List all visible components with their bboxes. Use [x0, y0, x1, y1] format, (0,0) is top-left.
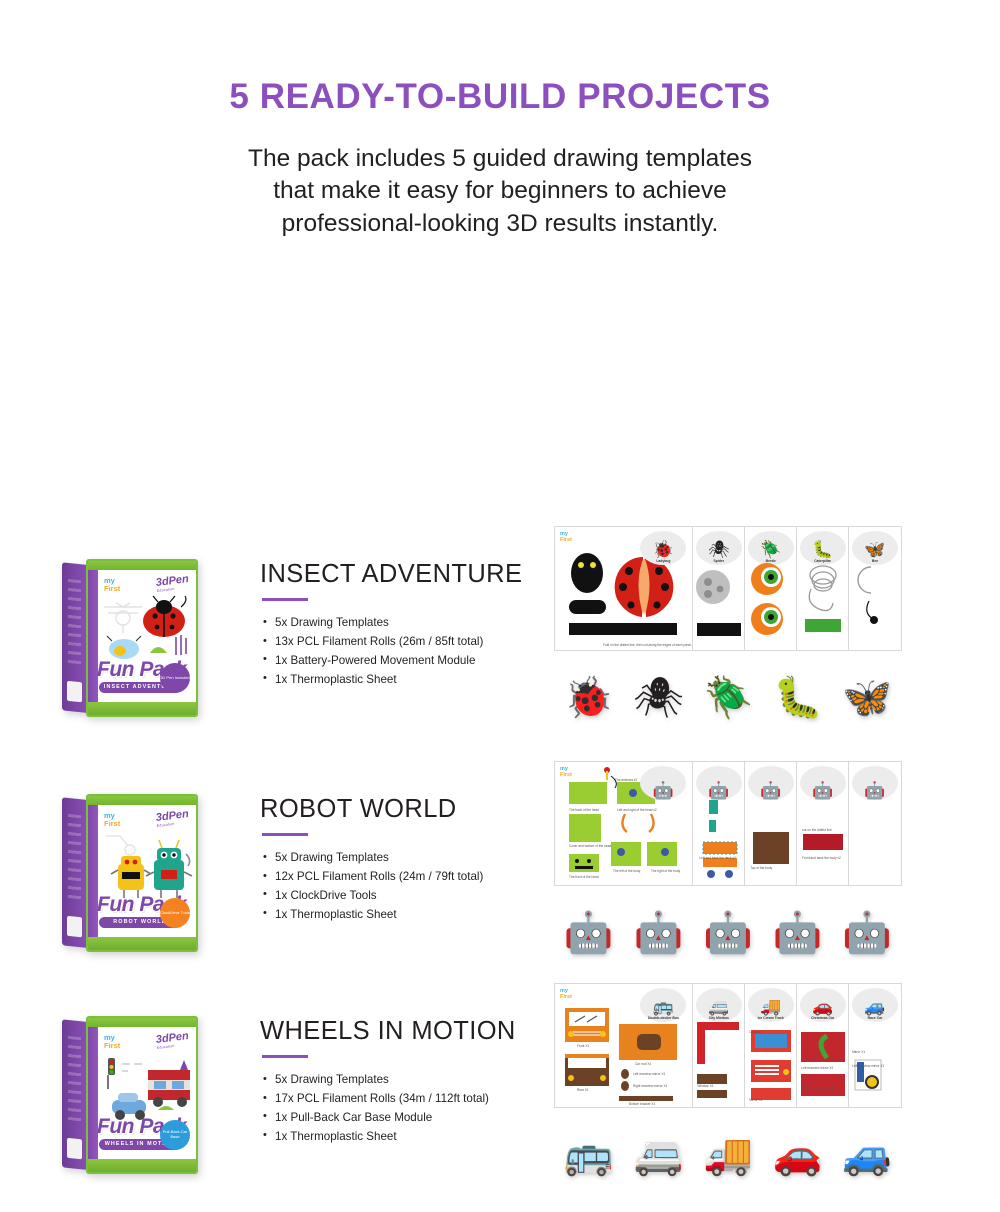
- title-underline: [262, 598, 308, 602]
- sheet-column-robot: my First 🤖: [550, 755, 1000, 990]
- template-thumbnail-beetle: 🪲 Beetle: [748, 531, 794, 565]
- template-panels: my First 🐞 Ladybug: [554, 526, 902, 651]
- sheet-note: Left rearview mirror X1: [633, 1072, 665, 1076]
- sheet-note: Left rearview mirror X1: [852, 1064, 884, 1068]
- brown-robot-shapes: [745, 798, 797, 883]
- sheet-note: The right of the body: [651, 869, 680, 873]
- box-footer-line: Draw Your Own 3D Creations: [88, 944, 196, 948]
- orange-robot-model: 🤖: [842, 913, 892, 953]
- text-column-robot: ROBOT WORLD 5x Drawing Templates 12x PCL…: [260, 755, 550, 990]
- sheet-note: Mirror X1: [852, 1050, 865, 1054]
- sheet-note: Top of the body: [750, 866, 772, 870]
- car-icon: 🚗: [812, 998, 833, 1015]
- list-item: 12x PCL Filament Rolls (24m / 79ft total…: [260, 868, 550, 887]
- list-item: 5x Drawing Templates: [260, 1071, 550, 1090]
- text-column-insect: INSECT ADVENTURE 5x Drawing Templates 13…: [260, 520, 550, 755]
- box-left-edge: [88, 570, 98, 706]
- sheet-column-insect: my First 🐞 Ladybug: [550, 520, 1000, 755]
- sheet-note: The back of the head: [569, 808, 599, 812]
- template-sheet-robot[interactable]: my First 🤖: [554, 761, 902, 953]
- template-thumbnail-bee: 🦋 Bee: [852, 531, 898, 565]
- 3dpen-logo: 3dPen Education: [155, 573, 190, 593]
- template-thumbnail-orange-robot: 🤖: [852, 766, 898, 800]
- box-spine: [62, 1019, 88, 1170]
- box-left-edge: [88, 1027, 98, 1163]
- text-column-wheels: WHEELS IN MOTION 5x Drawing Templates 17…: [260, 977, 550, 1212]
- brand-my: my: [104, 1034, 120, 1042]
- list-item: 5x Drawing Templates: [260, 614, 550, 633]
- list-item: 1x ClockDrive Tools: [260, 887, 550, 906]
- template-thumbnail-teal-robot: 🤖: [696, 766, 742, 800]
- feature-list-insect: 5x Drawing Templates 13x PCL Filament Ro…: [260, 614, 550, 689]
- caterpillar-model: 🐛: [773, 678, 823, 718]
- sheet-note: Left and right of the head x2: [617, 808, 657, 812]
- 3dpen-logo: 3dPen Education: [155, 808, 190, 828]
- sheet-note: cut on the dotted line: [802, 828, 832, 832]
- template-sheet-insect[interactable]: my First 🐞 Ladybug: [554, 526, 902, 718]
- box-column-wheels: my First 3dPen Education: [0, 977, 260, 1212]
- truck-icon: 🚚: [760, 998, 781, 1015]
- box-front-face: my First 3dPen Education: [86, 559, 198, 717]
- template-thumbnail-minibus: 🚐 City Minibus: [696, 988, 742, 1022]
- icecream-truck-shapes: [745, 1026, 797, 1107]
- yellow-robot-shapes: [797, 798, 849, 883]
- robot-icon: 🤖: [760, 782, 781, 799]
- ice-cream-truck-model: 🚚: [703, 1135, 753, 1175]
- finished-models-wheels: 🚌 🚐 🚚 🚗 🚙: [554, 1101, 902, 1175]
- template-thumbnail-spider: 🕷 Spider: [696, 531, 742, 565]
- bus-icon: 🚌: [653, 998, 674, 1015]
- sheet-note: Rear X1: [577, 1088, 589, 1092]
- template-panel-city-minibus: 🚐 City Minibus Window X1: [693, 984, 745, 1107]
- bee-template-shapes: [849, 561, 889, 646]
- page-title: 5 READY-TO-BUILD PROJECTS: [0, 78, 1000, 117]
- subtitle-line-2: that make it easy for beginners to achie…: [0, 175, 1000, 208]
- beetle-template-shapes: [745, 561, 797, 646]
- template-panel-ladybug: my First 🐞 Ladybug: [555, 527, 693, 650]
- sheet-note: Front and back the body x2: [802, 856, 841, 860]
- sheet-note: Lamp X1: [749, 1030, 762, 1034]
- sheet-brand-first: First: [560, 773, 572, 779]
- box-spine: [62, 797, 88, 948]
- thumbnail-caption: Christmas Car: [811, 1016, 834, 1020]
- robot-icon: 🤖: [812, 782, 833, 799]
- section-wheels-in-motion: my First 3dPen Education: [0, 977, 1000, 1212]
- thumbnail-caption: Ice Cream Truck: [758, 1016, 784, 1020]
- robot-icon: 🤖: [708, 782, 729, 799]
- bee-model: 🦋: [842, 678, 892, 718]
- list-item: 1x Thermoplastic Sheet: [260, 906, 550, 925]
- sheet-note: Left rearview mirror X1: [801, 1066, 833, 1070]
- template-thumbnail-christmas-car: 🚗 Christmas Car: [800, 988, 846, 1022]
- page-header: 5 READY-TO-BUILD PROJECTS The pack inclu…: [0, 0, 1000, 240]
- template-panel-christmas-car: 🚗 Christmas Car Left rearview mirror X1 …: [797, 984, 849, 1107]
- list-item: 13x PCL Filament Rolls (26m / 85ft total…: [260, 633, 550, 652]
- ladybug-icon: 🐞: [653, 541, 674, 558]
- section-title-wheels: WHEELS IN MOTION: [260, 1019, 550, 1045]
- template-panel-green-robot: my First 🤖: [555, 762, 693, 885]
- race-car-model: 🚙: [842, 1135, 892, 1175]
- template-panel-ice-cream-truck: 🚚 Ice Cream Truck Lamp X1 Mirror: [745, 984, 797, 1107]
- section-robot-world: my First 3dPen Education: [0, 755, 1000, 990]
- teal-robot-model: 🤖: [633, 913, 683, 953]
- template-panel-race-car: 🚙 Race Car Mirror X1 Left rearview mirro…: [849, 984, 901, 1107]
- box-front-face: my First 3dPen Education: [86, 1016, 198, 1174]
- sheet-myfirst-logo: my First: [560, 989, 572, 1001]
- sheet-column-wheels: my First 🚌 Double-decker Bus: [550, 977, 1000, 1212]
- race-car-icon: 🚙: [864, 998, 885, 1015]
- race-car-shapes: [849, 1036, 889, 1107]
- box-front-face: my First 3dPen Education: [86, 794, 198, 952]
- bee-icon: 🦋: [864, 541, 885, 558]
- sheet-note: Window X1: [697, 1084, 713, 1088]
- double-decker-bus-model: 🚌: [564, 1135, 614, 1175]
- list-item: 1x Thermoplastic Sheet: [260, 1128, 550, 1147]
- template-panels: my First 🤖: [554, 761, 902, 886]
- title-underline: [262, 833, 308, 837]
- template-thumbnail-brown-robot: 🤖: [748, 766, 794, 800]
- yellow-robot-model: 🤖: [773, 913, 823, 953]
- caterpillar-template-shapes: [797, 561, 849, 646]
- box-badge: Pull-Back Car Base: [160, 1120, 190, 1150]
- caterpillar-icon: 🐛: [812, 541, 833, 558]
- green-robot-model: 🤖: [564, 913, 614, 953]
- subtitle-line-1: The pack includes 5 guided drawing templ…: [0, 143, 1000, 176]
- sheet-brand-first: First: [560, 538, 572, 544]
- section-title-robot: ROBOT WORLD: [260, 797, 550, 823]
- box-badge: ClockDrive Tools: [160, 898, 190, 928]
- template-panel-yellow-robot: 🤖 cut on the dotted line Front and back …: [797, 762, 849, 885]
- section-title-insect: INSECT ADVENTURE: [260, 562, 550, 588]
- list-item: 17x PCL Filament Rolls (34m / 112ft tota…: [260, 1090, 550, 1109]
- thumbnail-caption: Double-decker Bus: [648, 1016, 679, 1020]
- list-item: 5x Drawing Templates: [260, 849, 550, 868]
- thumbnail-caption: Race Car: [868, 1016, 883, 1020]
- robot-icon: 🤖: [653, 782, 674, 799]
- sheet-note: Cover and bottom of the head: [569, 844, 611, 848]
- product-box-insect-adventure[interactable]: my First 3dPen Education: [62, 559, 198, 717]
- template-panel-brown-robot: 🤖 Top of the body: [745, 762, 797, 885]
- sheet-note: Left and back the neck x2: [699, 856, 735, 860]
- beetle-model: 🪲: [704, 678, 754, 718]
- template-panel-teal-robot: 🤖 Left and back the neck x2: [693, 762, 745, 885]
- box-badge-text: ClockDrive Tools: [160, 911, 190, 915]
- template-panel-beetle: 🪲 Beetle: [745, 527, 797, 650]
- template-panel-orange-robot: 🤖: [849, 762, 901, 885]
- template-thumbnail-icecream-truck: 🚚 Ice Cream Truck: [748, 988, 794, 1022]
- sheet-note: Right rearview mirror X1: [633, 1084, 667, 1088]
- christmas-car-model: 🚗: [773, 1135, 823, 1175]
- thumbnail-caption: Spider: [714, 559, 725, 563]
- box-column-robot: my First 3dPen Education: [0, 755, 260, 990]
- sheet-note: Front X1: [577, 1044, 589, 1048]
- template-thumbnail-race-car: 🚙 Race Car: [852, 988, 898, 1022]
- box-footer-line: Draw Your Own 3D Creations: [88, 1166, 196, 1170]
- thumbnail-caption: Ladybug: [656, 559, 670, 563]
- product-box-robot-world[interactable]: my First 3dPen Education: [62, 794, 198, 952]
- sheet-note: The antenna x2: [615, 778, 637, 782]
- minibus-shapes: [693, 1018, 745, 1103]
- beetle-icon: 🪲: [760, 541, 781, 558]
- box-left-edge: [88, 805, 98, 941]
- spider-model: 🕷: [633, 678, 684, 718]
- city-minibus-model: 🚐: [633, 1135, 683, 1175]
- title-underline: [262, 1055, 308, 1059]
- ladybug-model: 🐞: [564, 678, 614, 718]
- subtitle-line-3: professional-looking 3D results instantl…: [0, 208, 1000, 241]
- template-sheet-wheels[interactable]: my First 🚌 Double-decker Bus: [554, 983, 902, 1175]
- list-item: 1x Thermoplastic Sheet: [260, 671, 550, 690]
- template-thumbnail-yellow-robot: 🤖: [800, 766, 846, 800]
- template-panel-caterpillar: 🐛 Caterpillar: [797, 527, 849, 650]
- template-thumbnail-caterpillar: 🐛 Caterpillar: [800, 531, 846, 565]
- sheet-note: The left of the body: [613, 869, 640, 873]
- box-badge: 3D Pen Included: [160, 663, 190, 693]
- finished-models-robot: 🤖 🤖 🤖 🤖 🤖: [554, 879, 902, 953]
- sheet-myfirst-logo: my First: [560, 532, 572, 544]
- box-badge-text: Pull-Back Car Base: [160, 1130, 190, 1139]
- teal-robot-shapes: [693, 798, 745, 883]
- feature-list-robot: 5x Drawing Templates 12x PCL Filament Ro…: [260, 849, 550, 924]
- box-badge-text: 3D Pen Included: [160, 676, 190, 680]
- sheet-note: Right rearview mirror X1: [801, 1086, 835, 1090]
- spider-template-shapes: [693, 565, 745, 650]
- list-item: 1x Battery-Powered Movement Module: [260, 652, 550, 671]
- feature-list-wheels: 5x Drawing Templates 17x PCL Filament Ro…: [260, 1071, 550, 1146]
- template-panel-spider: 🕷 Spider: [693, 527, 745, 650]
- product-box-wheels-in-motion[interactable]: my First 3dPen Education: [62, 1016, 198, 1174]
- spider-icon: 🕷: [708, 541, 730, 558]
- list-item: 1x Pull-Back Car Base Module: [260, 1109, 550, 1128]
- page-subtitle: The pack includes 5 guided drawing templ…: [0, 143, 1000, 241]
- box-column-insect: my First 3dPen Education: [0, 520, 260, 755]
- template-panels: my First 🚌 Double-decker Bus: [554, 983, 902, 1108]
- box-footer-line: Draw Your Own 3D Creations: [88, 709, 196, 713]
- sheet-note: Car roof X1: [635, 1062, 651, 1066]
- section-insect-adventure: my First 3dPen Education: [0, 520, 1000, 755]
- template-panel-bee: 🦋 Bee: [849, 527, 901, 650]
- sheet-myfirst-logo: my First: [560, 767, 572, 779]
- finished-models-insect: 🐞 🕷 🪲 🐛 🦋: [554, 644, 902, 718]
- brown-robot-model: 🤖: [703, 913, 753, 953]
- robot-icon: 🤖: [864, 782, 885, 799]
- box-spine: [62, 562, 88, 713]
- minibus-icon: 🚐: [708, 998, 729, 1015]
- template-panel-double-decker-bus: my First 🚌 Double-decker Bus: [555, 984, 693, 1107]
- 3dpen-logo: 3dPen Education: [155, 1030, 190, 1050]
